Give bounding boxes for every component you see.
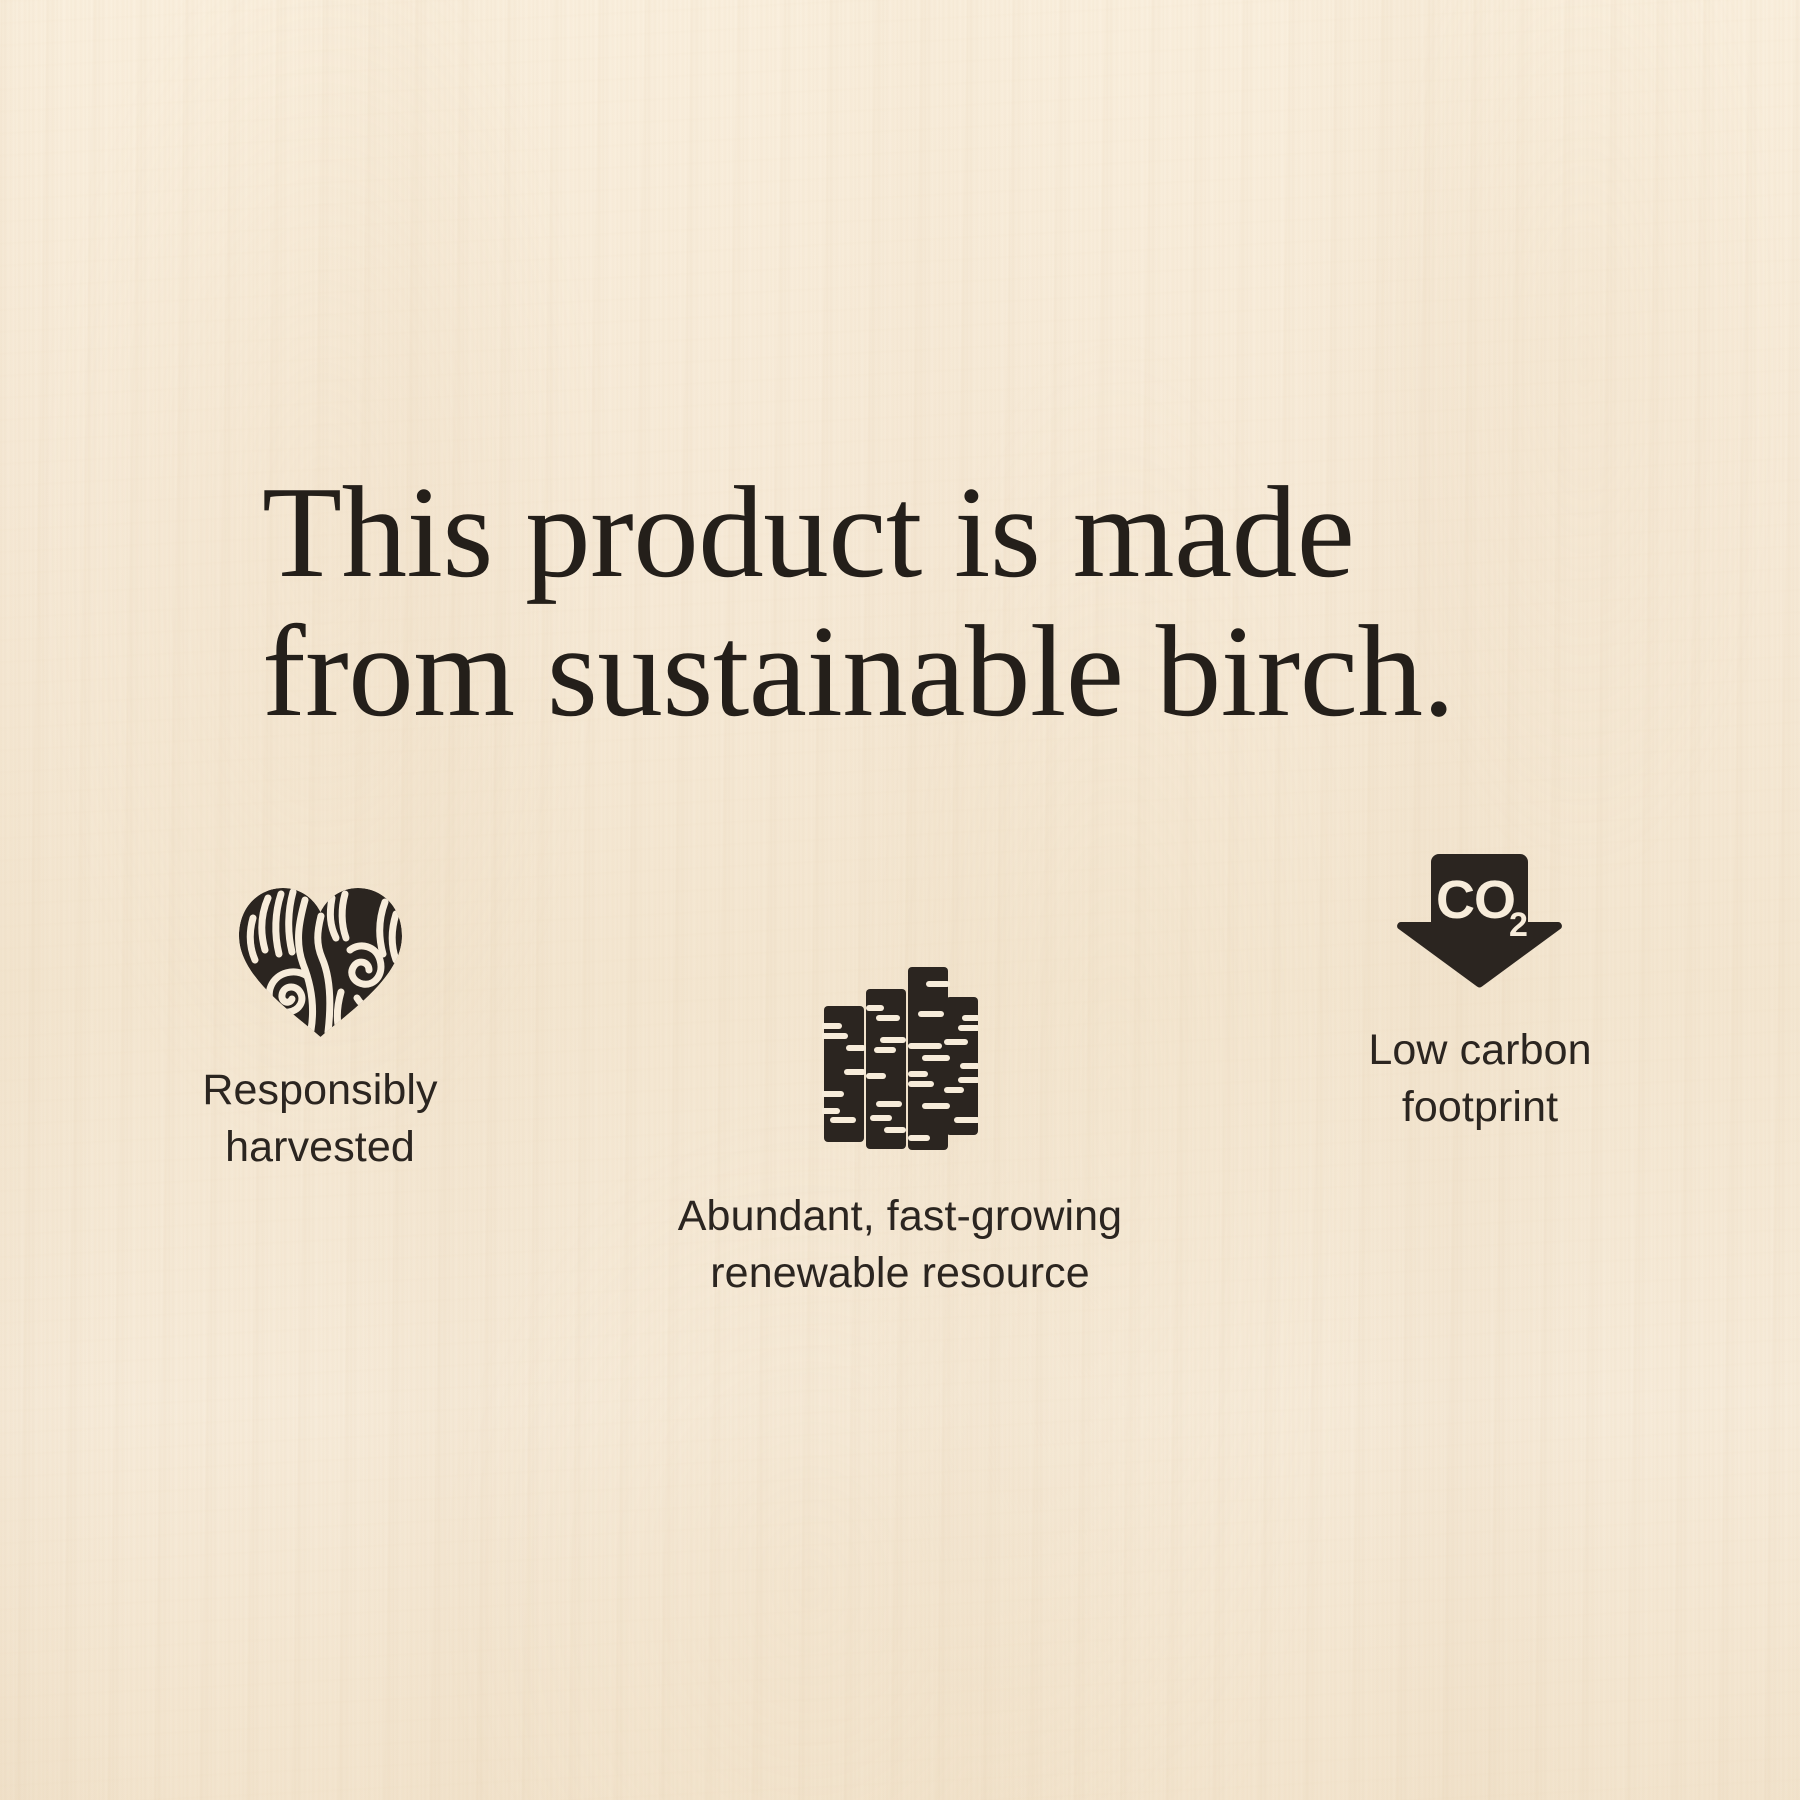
feature-list: Responsibly harvested	[0, 780, 1800, 1300]
wood-grain-heart-icon	[233, 880, 408, 1040]
co2-down-arrow-icon: CO 2	[1394, 850, 1566, 990]
poster-content: This product is made from sustainable bi…	[0, 0, 1800, 1800]
feature-caption: Responsibly harvested	[110, 1062, 530, 1176]
co2-icon-label: CO	[1436, 870, 1515, 930]
feature-caption: Low carbon footprint	[1270, 1022, 1690, 1136]
feature-caption: Abundant, fast-growing renewable resourc…	[580, 1188, 1220, 1302]
feature-renewable-resource: Abundant, fast-growing renewable resourc…	[580, 900, 1220, 1302]
feature-icon-wrap	[580, 900, 1220, 1150]
feature-caption-line-2: footprint	[1270, 1079, 1690, 1136]
feature-caption-line-2: harvested	[110, 1119, 530, 1176]
headline: This product is made from sustainable bi…	[262, 466, 1562, 739]
headline-line-1: This product is made	[262, 466, 1562, 600]
feature-icon-wrap	[110, 870, 530, 1040]
feature-caption-line-1: Responsibly	[110, 1062, 530, 1119]
co2-icon-subscript: 2	[1509, 906, 1528, 944]
headline-line-2: from sustainable birch.	[262, 605, 1562, 739]
feature-low-carbon-footprint: CO 2 Low carbon footprint	[1270, 790, 1690, 1136]
feature-caption-line-1: Abundant, fast-growing	[580, 1188, 1220, 1245]
birch-trees-icon	[822, 965, 978, 1150]
sustainable-birch-poster: This product is made from sustainable bi…	[0, 0, 1800, 1800]
feature-caption-line-1: Low carbon	[1270, 1022, 1690, 1079]
feature-icon-wrap: CO 2	[1270, 790, 1690, 990]
feature-responsibly-harvested: Responsibly harvested	[110, 870, 530, 1176]
feature-caption-line-2: renewable resource	[580, 1245, 1220, 1302]
